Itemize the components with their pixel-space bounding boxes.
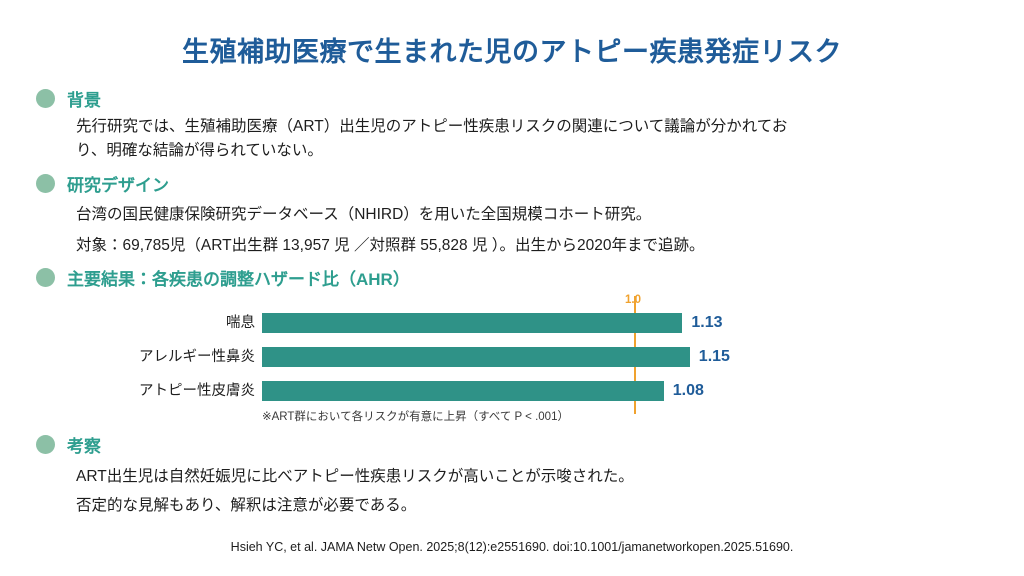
bullet-icon bbox=[36, 268, 55, 287]
chart-footnote: ※ART群において各リスクが有意に上昇（すべて P < .001） bbox=[262, 408, 569, 424]
bullet-icon bbox=[36, 89, 55, 108]
chart-bar bbox=[262, 381, 664, 401]
background-line-1: 先行研究では、生殖補助医療（ART）出生児のアトピー性疾患リスクの関連について議… bbox=[76, 115, 787, 138]
ahr-bar-chart: 1.0 喘息 1.13 アレルギー性鼻炎 1.15 アトピー性皮膚炎 1.08 … bbox=[0, 296, 1024, 416]
discussion-line-2: 否定的な見解もあり、解釈は注意が必要である。 bbox=[76, 494, 416, 517]
section-title-design: 研究デザイン bbox=[67, 171, 169, 196]
section-header-discussion: 考察 bbox=[36, 432, 101, 457]
design-line-1: 台湾の国民健康保険研究データベース（NHIRD）を用いた全国規模コホート研究。 bbox=[76, 203, 651, 226]
chart-row: アトピー性皮膚炎 1.08 bbox=[0, 378, 1024, 404]
chart-bar bbox=[262, 347, 690, 367]
chart-bar bbox=[262, 313, 682, 333]
bullet-icon bbox=[36, 174, 55, 193]
chart-row: 喘息 1.13 bbox=[0, 310, 1024, 336]
background-line-2: り、明確な結論が得られていない。 bbox=[76, 139, 323, 162]
chart-value-label: 1.08 bbox=[673, 378, 704, 404]
chart-value-label: 1.15 bbox=[699, 344, 730, 370]
section-header-results: 主要結果：各疾患の調整ハザード比（AHR） bbox=[36, 265, 410, 290]
chart-category-label: アトピー性皮膚炎 bbox=[60, 378, 255, 404]
section-title-results: 主要結果：各疾患の調整ハザード比（AHR） bbox=[67, 265, 410, 290]
section-header-design: 研究デザイン bbox=[36, 171, 169, 196]
discussion-line-1: ART出生児は自然妊娠児に比べアトピー性疾患リスクが高いことが示唆された。 bbox=[76, 465, 634, 488]
section-title-background: 背景 bbox=[67, 86, 101, 111]
chart-row: アレルギー性鼻炎 1.15 bbox=[0, 344, 1024, 370]
page-title: 生殖補助医療で生まれた児のアトピー疾患発症リスク bbox=[0, 30, 1024, 69]
chart-category-label: アレルギー性鼻炎 bbox=[60, 344, 255, 370]
citation: Hsieh YC, et al. JAMA Netw Open. 2025;8(… bbox=[0, 540, 1024, 554]
design-line-2: 対象：69,785児（ART出生群 13,957 児 ／対照群 55,828 児… bbox=[76, 234, 705, 257]
bullet-icon bbox=[36, 435, 55, 454]
section-title-discussion: 考察 bbox=[67, 432, 101, 457]
section-header-background: 背景 bbox=[36, 86, 101, 111]
chart-category-label: 喘息 bbox=[60, 310, 255, 336]
chart-value-label: 1.13 bbox=[691, 310, 722, 336]
reference-line-label: 1.0 bbox=[625, 294, 641, 306]
